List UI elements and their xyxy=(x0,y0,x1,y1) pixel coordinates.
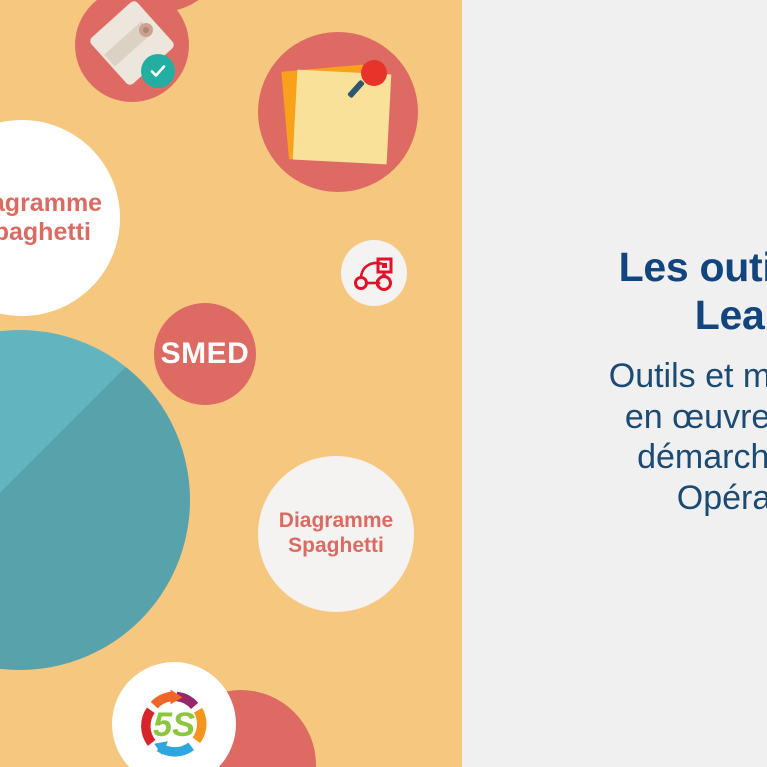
svg-text:5S: 5S xyxy=(153,706,195,744)
page-title: Les outils de Lean xyxy=(462,243,767,340)
bubble-diagramme-spaghetti-top[interactable]: Diagramme Spaghetti xyxy=(0,120,120,316)
tag-check-icon xyxy=(101,12,165,76)
page-subtitle: Outils et méthode en œuvre progr démarch… xyxy=(462,356,767,519)
5s-cycle-icon: 5S xyxy=(131,681,217,767)
bubble-smed[interactable]: SMED xyxy=(154,303,256,405)
bubble-workflow[interactable] xyxy=(341,240,407,306)
right-text-panel: Les outils de Lean Outils et méthode en … xyxy=(462,0,767,767)
pushpin-head-icon xyxy=(361,60,387,86)
check-badge-icon xyxy=(141,54,175,88)
tag-hole-inner xyxy=(143,27,149,33)
left-illustration-panel: 5S SMED Diagramme Spaghetti Diagramme Sp… xyxy=(0,0,462,767)
slide-canvas: 5S SMED Diagramme Spaghetti Diagramme Sp… xyxy=(0,0,767,767)
bubble-smed-label: SMED xyxy=(161,336,250,371)
workflow-diagram-icon xyxy=(352,251,396,295)
bubble-diagramme-spaghetti-mid-label: Diagramme Spaghetti xyxy=(258,509,414,559)
bubble-tag-check[interactable] xyxy=(75,0,189,102)
bubble-diagramme-spaghetti-top-label: Diagramme Spaghetti xyxy=(0,189,120,248)
bubble-diagramme-spaghetti-mid[interactable]: Diagramme Spaghetti xyxy=(258,456,414,612)
bubble-sticky-note[interactable] xyxy=(258,32,418,192)
bubble-5s[interactable]: 5S xyxy=(112,662,236,767)
sticky-note-pin-icon xyxy=(283,60,395,168)
title-block: Les outils de Lean Outils et méthode en … xyxy=(462,243,767,519)
